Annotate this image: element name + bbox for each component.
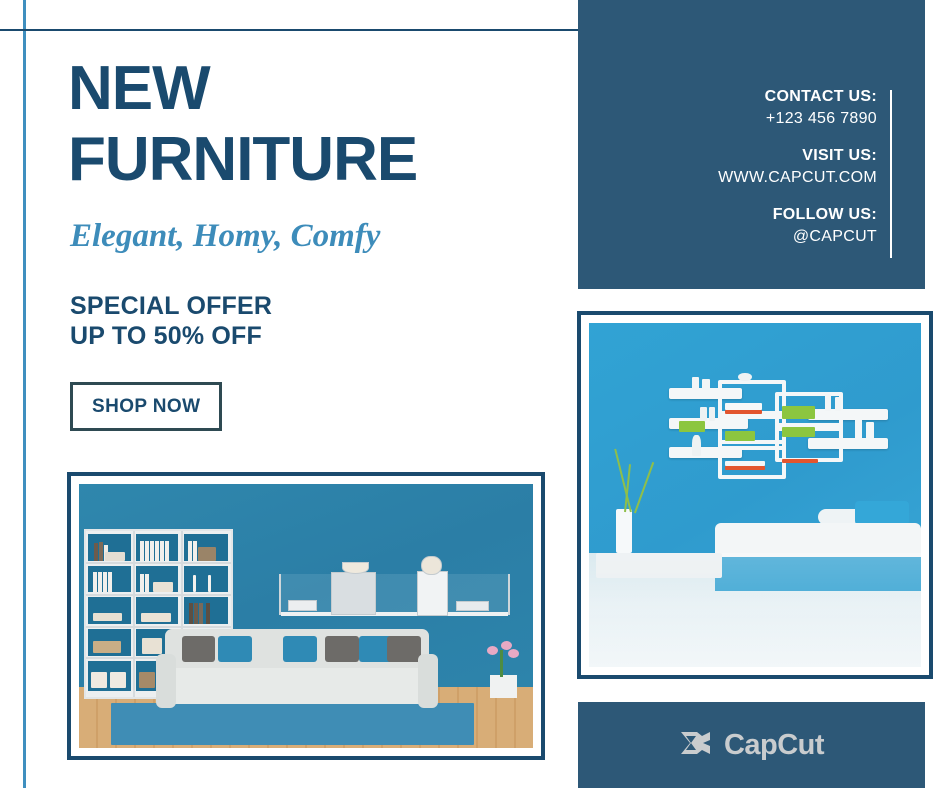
offer-line-2: UP TO 50% OFF <box>70 321 568 352</box>
website-url[interactable]: WWW.CAPCUT.COM <box>718 167 877 189</box>
vertical-accent-rule <box>23 0 26 788</box>
capcut-logo-icon <box>679 729 713 762</box>
headline-block: NEW FURNITURE Elegant, Homy, Comfy SPECI… <box>68 60 568 431</box>
contact-details: CONTACT US: +123 456 7890 VISIT US: WWW.… <box>718 86 877 248</box>
bedroom-photo <box>589 323 921 667</box>
living-room-photo <box>79 484 533 748</box>
shop-now-button[interactable]: SHOP NOW <box>70 382 222 431</box>
offer-line-1: SPECIAL OFFER <box>70 291 568 322</box>
page-title: NEW FURNITURE <box>68 60 568 190</box>
floor-reflection <box>589 553 921 667</box>
orchid-plant <box>483 629 524 698</box>
plant-stems <box>602 443 655 512</box>
contact-panel: CONTACT US: +123 456 7890 VISIT US: WWW.… <box>578 0 925 289</box>
sofa <box>156 629 437 716</box>
offer-text: SPECIAL OFFER UP TO 50% OFF <box>70 291 568 352</box>
brand-lockup: CapCut <box>679 729 824 762</box>
follow-us-label: FOLLOW US: <box>718 204 877 226</box>
social-handle[interactable]: @CAPCUT <box>718 226 877 248</box>
contact-divider-rule <box>890 90 892 258</box>
headline-line-1: NEW <box>68 54 210 123</box>
visit-us-label: VISIT US: <box>718 145 877 167</box>
brand-panel: CapCut <box>578 702 925 788</box>
contact-us-label: CONTACT US: <box>718 86 877 108</box>
brand-name: CapCut <box>724 729 824 762</box>
bedroom-photo-frame <box>577 311 933 679</box>
headline-line-2: FURNITURE <box>68 131 568 190</box>
vase <box>616 509 633 554</box>
wall-shelf <box>279 574 510 616</box>
living-room-photo-frame <box>67 472 545 760</box>
phone-number[interactable]: +123 456 7890 <box>718 108 877 130</box>
tagline: Elegant, Homy, Comfy <box>70 218 568 255</box>
poster-canvas: NEW FURNITURE Elegant, Homy, Comfy SPECI… <box>0 0 940 788</box>
